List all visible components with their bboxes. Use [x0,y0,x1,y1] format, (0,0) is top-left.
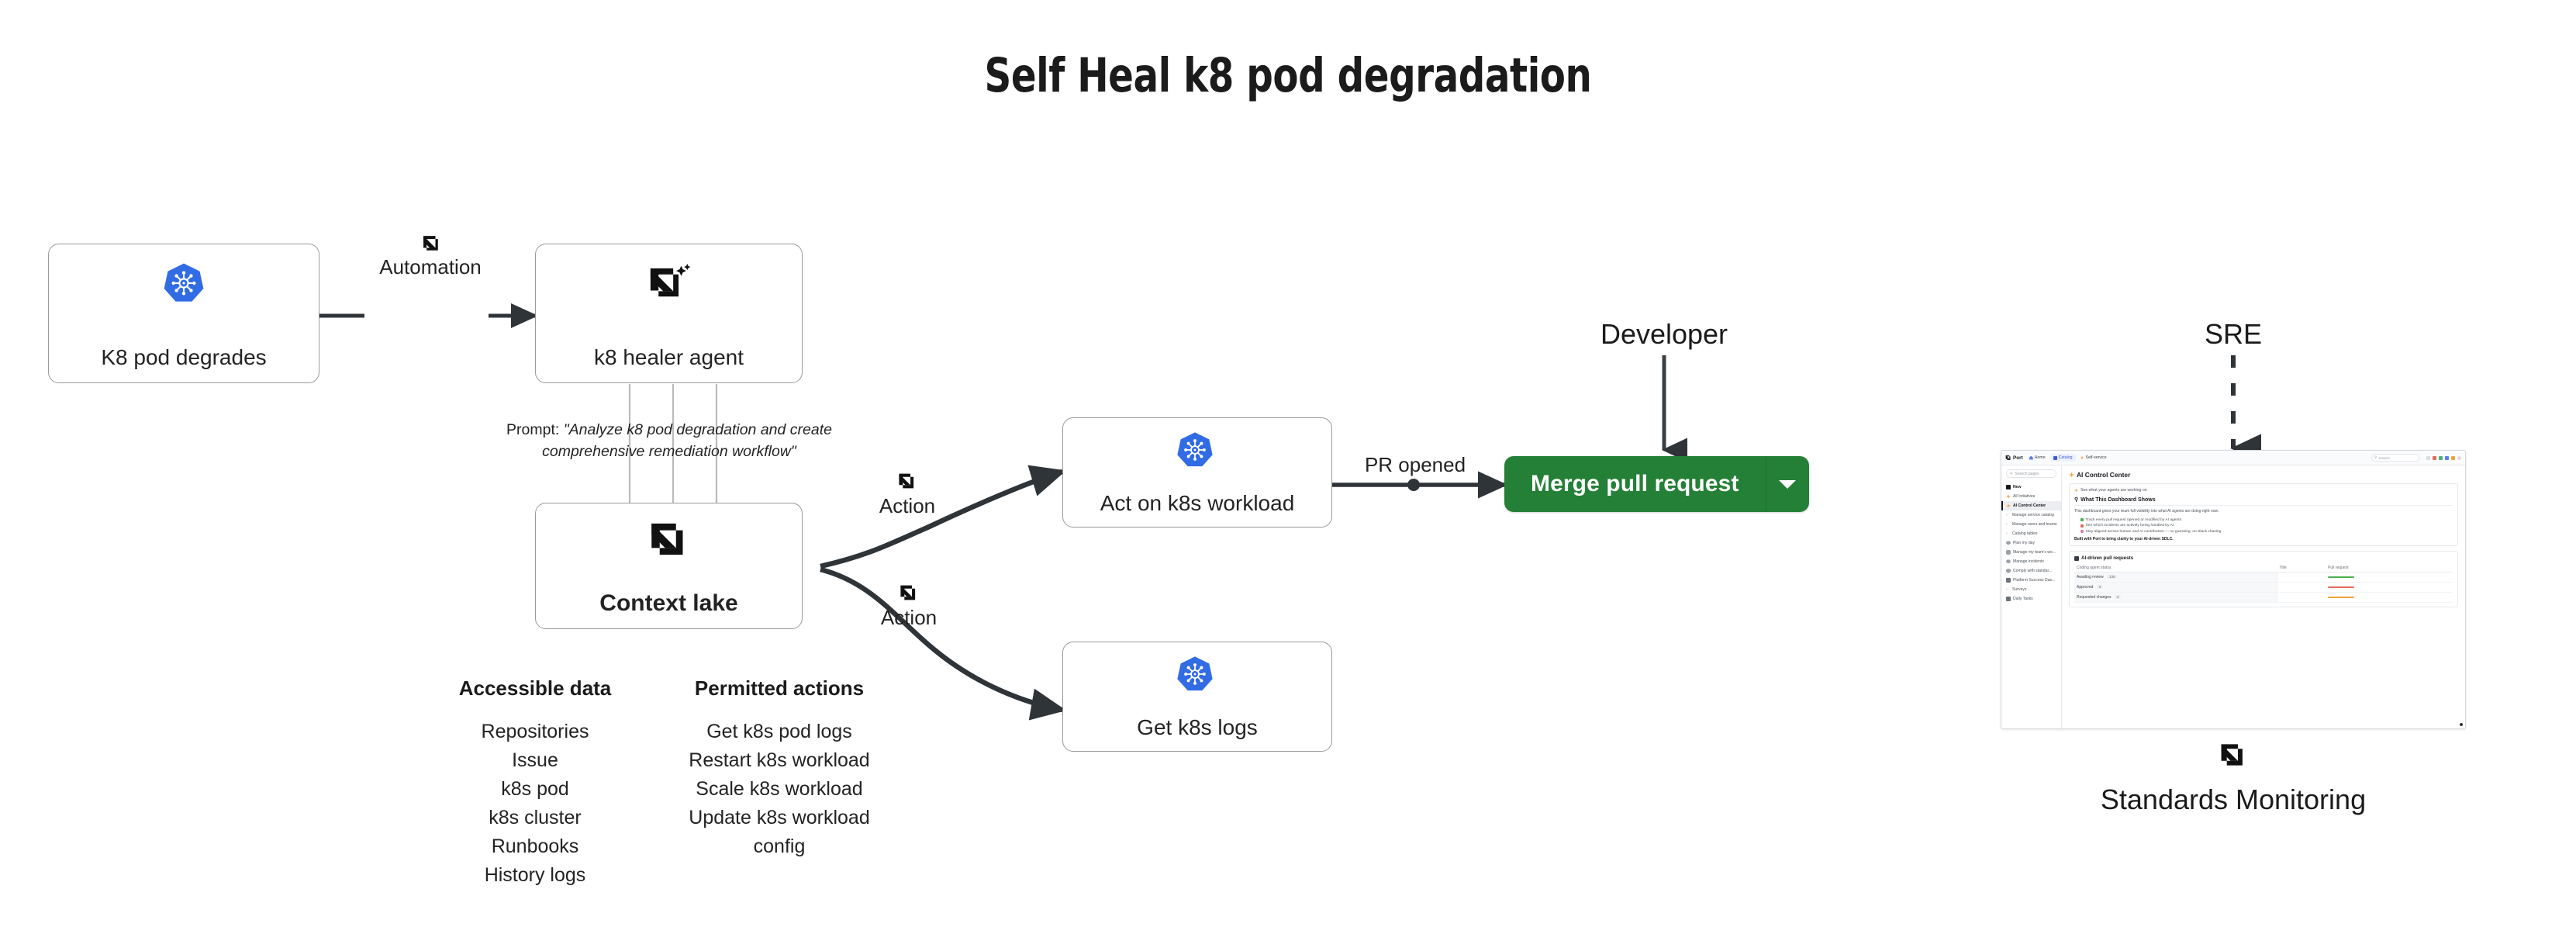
status-cell[interactable]: Awaiting review 130 [2074,573,2277,583]
pr-cell [2326,573,2453,583]
sidebar-item-manage-service-catalog[interactable]: › Manage service catalog [2001,510,2061,520]
sidebar-search-input[interactable]: ⚲ Search pages [2006,469,2056,478]
status-count: 130 [2107,575,2117,579]
info-card-paragraph: This dashboard gives your team full visi… [2074,509,2453,515]
edge-automation: Automation [326,233,535,279]
grid-icon [2006,578,2011,583]
kubernetes-icon [1176,431,1219,474]
sparkle-icon [2069,472,2074,478]
ai-pull-requests-table: Coding agent status Title Pull request A… [2074,564,2453,603]
list-item: Runbooks [458,832,613,861]
node-k8-pod-degrades[interactable]: K8 pod degrades [48,244,319,383]
list-item: Restart k8s workload [675,746,884,775]
plus-icon [2006,485,2011,489]
port-icon [899,583,919,606]
chevron-right-icon: › [2006,513,2010,517]
tab-home[interactable]: Home [2029,455,2046,460]
sparkle-icon [2080,456,2084,460]
search-placeholder: Search pages [2015,472,2039,476]
dashboard-sidebar: ⚲ Search pages New All Initiatives AI Co… [2001,465,2062,728]
gear-icon [2006,541,2011,545]
icon-1[interactable] [2426,456,2430,460]
check-icon [2080,518,2084,521]
dashboard-screenshot[interactable]: Port Home Catalog Self-service ⚲ Search [2001,450,2466,729]
node-get-k8s-logs[interactable]: Get k8s logs [1062,642,1332,752]
icon-4[interactable] [2445,456,2449,460]
port-icon [420,233,440,257]
standards-monitoring-label: Standards Monitoring [2078,784,2388,816]
sidebar-item-new[interactable]: New [2001,483,2061,492]
sparkle-icon [2074,489,2078,493]
sparkle-icon [2006,503,2011,508]
bullet-text: Track every pull request opened or modif… [2086,517,2182,524]
sidebar-item-label: All Initiatives [2013,494,2035,499]
alert-icon [2080,524,2084,528]
accessible-data-column: Accessible data Repositories Issue k8s p… [458,676,613,890]
dashboard-main: AI Control Center See what your agents a… [2062,465,2465,728]
list-item: See which incidents are actively being h… [2080,523,2453,529]
home-icon [2029,456,2033,460]
diagram-canvas: Self Heal k8 pod degradation [0,0,2576,934]
gear-icon [2006,559,2011,564]
icon-5[interactable] [2451,456,2455,460]
edge-label-automation: Automation [326,255,535,279]
node-label: k8 healer agent [594,346,744,370]
node-label: Context lake [599,590,737,616]
sidebar-item-label: Daily Tasks [2013,597,2033,601]
column-header[interactable]: Coding agent status [2074,564,2277,573]
dashboard-table-card: AI-driven pull requests Coding agent sta… [2069,551,2458,607]
grid-icon [2006,597,2011,601]
bullet-text: Stay aligned across human and AI contrib… [2086,529,2222,535]
port-icon [2005,455,2011,461]
tab-label: Self-service [2086,455,2107,460]
search-icon: ⚲ [2010,472,2013,476]
pr-cell [2326,593,2453,603]
sidebar-item-label: Comply with standar... [2013,569,2052,573]
table-heading: AI-driven pull requests [2074,555,2453,561]
pr-cell [2326,583,2453,593]
search-placeholder: Search [2378,456,2390,460]
chevron-right-icon: › [2006,522,2010,527]
permitted-actions-column: Permitted actions Get k8s pod logs Resta… [675,676,884,861]
list-item: History logs [458,861,613,890]
tab-label: Home [2035,455,2046,460]
list-item: k8s cluster [458,804,613,832]
icon-2[interactable] [2433,456,2436,460]
sidebar-item-label: Manage incidents [2013,559,2044,564]
dashboard-info-card: See what your agents are working on ⚲ Wh… [2069,483,2458,546]
list-item: Repositories [458,718,613,746]
sidebar-item-manage-my-teams-work[interactable]: Manage my team's we... [2001,548,2061,557]
edge-action-bottom: Action [847,583,971,630]
node-k8-healer-agent[interactable]: k8 healer agent [535,244,803,383]
title-cell [2277,593,2326,603]
sidebar-item-ai-control-center[interactable]: AI Control Center [2001,501,2061,510]
chevron-right-icon: › [2006,587,2010,592]
status-label: Approved [2077,585,2093,590]
port-sparkle-icon [645,261,693,309]
column-title: Accessible data [458,676,613,700]
sparkle-icon [2006,494,2011,499]
table-row[interactable]: Awaiting review 130 [2074,573,2453,583]
title-cell [2277,583,2326,593]
dashboard-page-title-text: AI Control Center [2077,471,2130,479]
info-card-heading: ⚲ What This Dashboard Shows [2074,496,2453,506]
sidebar-item-label: AI Control Center [2013,503,2046,508]
kubernetes-icon [162,261,205,305]
table-row[interactable]: Approved 6 [2074,583,2453,593]
title-cell [2277,573,2326,583]
column-title: Permitted actions [675,676,884,700]
sidebar-item-label: Platform Success Das... [2013,578,2055,583]
status-label: Requested changes [2077,595,2111,600]
sidebar-item-label: Manage my team's we... [2013,550,2056,555]
dashboard-topbar: Port Home Catalog Self-service ⚲ Search [2001,451,2465,465]
info-card-heading-text: What This Dashboard Shows [2080,497,2155,503]
shield-icon [2006,569,2011,573]
list-item: Issue [458,746,613,775]
sre-label: SRE [2156,318,2311,351]
tab-label: Catalog [2059,455,2073,460]
list-item: Update k8s workload config [686,804,872,861]
magnifier-icon: ⚲ [2074,496,2078,503]
merge-pull-request-button[interactable]: Merge pull request [1504,456,1766,512]
dashboard-subtitle-text: See what your agents are working on [2080,488,2147,493]
dashboard-subtitle: See what your agents are working on [2074,488,2453,493]
list-item: Stay aligned across human and AI contrib… [2080,529,2453,535]
sidebar-item-daily-tasks[interactable]: Daily Tasks [2001,594,2061,604]
kubernetes-icon [1176,655,1219,698]
sidebar-item-label: Manage users and teams [2012,522,2056,527]
port-icon [647,519,691,563]
status-cell[interactable]: Requested changes 3 [2074,593,2277,603]
status-count: 3 [2115,595,2121,599]
status-bar [2328,576,2354,579]
node-label: Act on k8s workload [1100,492,1295,516]
sidebar-item-label: Catalog tables [2012,531,2038,536]
chevron-down-icon [1779,480,1796,489]
icon-3[interactable] [2439,456,2443,460]
port-icon [2219,741,2248,773]
dashboard-search-input[interactable]: ⚲ Search [2371,454,2419,462]
merge-dropdown-button[interactable] [1766,456,1809,512]
edge-action-top: Action [845,472,969,518]
status-bar [2328,597,2354,599]
node-context-lake[interactable]: Context lake [535,503,803,629]
edge-label-pr-opened: PR opened [1361,453,1469,477]
sidebar-item-platform-success-dashboard[interactable]: Platform Success Das... [2001,576,2061,585]
prompt-body: "Analyze k8 pod degradation and create c… [542,421,832,460]
prompt-text: Prompt: "Analyze k8 pod degradation and … [495,419,844,463]
list-item: Scale k8s workload [675,775,884,804]
sidebar-item-catalog-tables[interactable]: › Catalog tables [2001,529,2061,538]
people-icon [2006,550,2011,555]
standards-monitoring: Standards Monitoring [2078,741,2388,816]
table-row[interactable]: Requested changes 3 [2074,593,2453,603]
sidebar-item-label: Plan my day [2013,541,2035,545]
sidebar-item-comply-with-standards[interactable]: Comply with standar... [2001,566,2061,576]
prompt-prefix: Prompt: [506,421,559,438]
edge-label-action: Action [847,606,971,630]
tab-self-service[interactable]: Self-service [2080,455,2107,460]
list-item: Track every pull request opened or modif… [2080,517,2453,524]
column-header[interactable]: Pull request [2326,564,2453,573]
node-act-on-k8s-workload[interactable]: Act on k8s workload [1062,417,1332,528]
status-bar [2328,586,2354,589]
dashboard-page-title: AI Control Center [2069,471,2458,479]
tab-catalog[interactable]: Catalog [2050,454,2076,462]
sidebar-item-label: Surveys [2012,587,2026,592]
table-heading-text: AI-driven pull requests [2081,555,2133,561]
list-item: k8s pod [458,775,613,804]
node-label: Get k8s logs [1137,716,1258,740]
list-icon [2053,456,2057,460]
chevron-right-icon: › [2006,531,2010,536]
status-label: Awaiting review [2077,575,2104,579]
sidebar-item-label: Manage service catalog [2012,513,2054,517]
developer-label: Developer [1587,318,1742,351]
table-header-row: Coding agent status Title Pull request [2074,564,2453,573]
bullet-text: See which incidents are actively being h… [2086,523,2174,529]
node-label: K8 pod degrades [101,346,266,370]
column-header[interactable]: Title [2277,564,2326,573]
chart-icon [2074,556,2079,561]
edge-label-action: Action [845,494,969,518]
sidebar-item-all-initiatives[interactable]: All Initiatives [2001,492,2061,501]
port-logo: Port [2005,455,2023,461]
sidebar-item-surveys[interactable]: › Surveys [2001,585,2061,594]
list-item: Get k8s pod logs [675,718,884,746]
scroll-handle[interactable] [2460,723,2463,726]
handshake-icon [2080,530,2084,533]
sidebar-item-manage-incidents[interactable]: Manage incidents [2001,557,2061,566]
status-count: 6 [2097,585,2103,589]
sidebar-item-label: New [2013,485,2021,489]
merge-pull-request-group[interactable]: Merge pull request [1504,456,1809,512]
brand-label: Port [2013,455,2023,461]
info-card-footer: Built with Port to bring clarity to your… [2074,537,2453,541]
sidebar-item-manage-users-and-teams[interactable]: › Manage users and teams [2001,520,2061,529]
port-icon [897,472,917,494]
info-card-bullets: Track every pull request opened or modif… [2080,517,2453,535]
dashboard-topbar-icons [2426,456,2461,460]
status-cell[interactable]: Approved 6 [2074,583,2277,593]
sidebar-item-plan-my-day[interactable]: Plan my day [2001,538,2061,548]
search-icon: ⚲ [2374,455,2377,460]
avatar[interactable] [2457,456,2461,460]
